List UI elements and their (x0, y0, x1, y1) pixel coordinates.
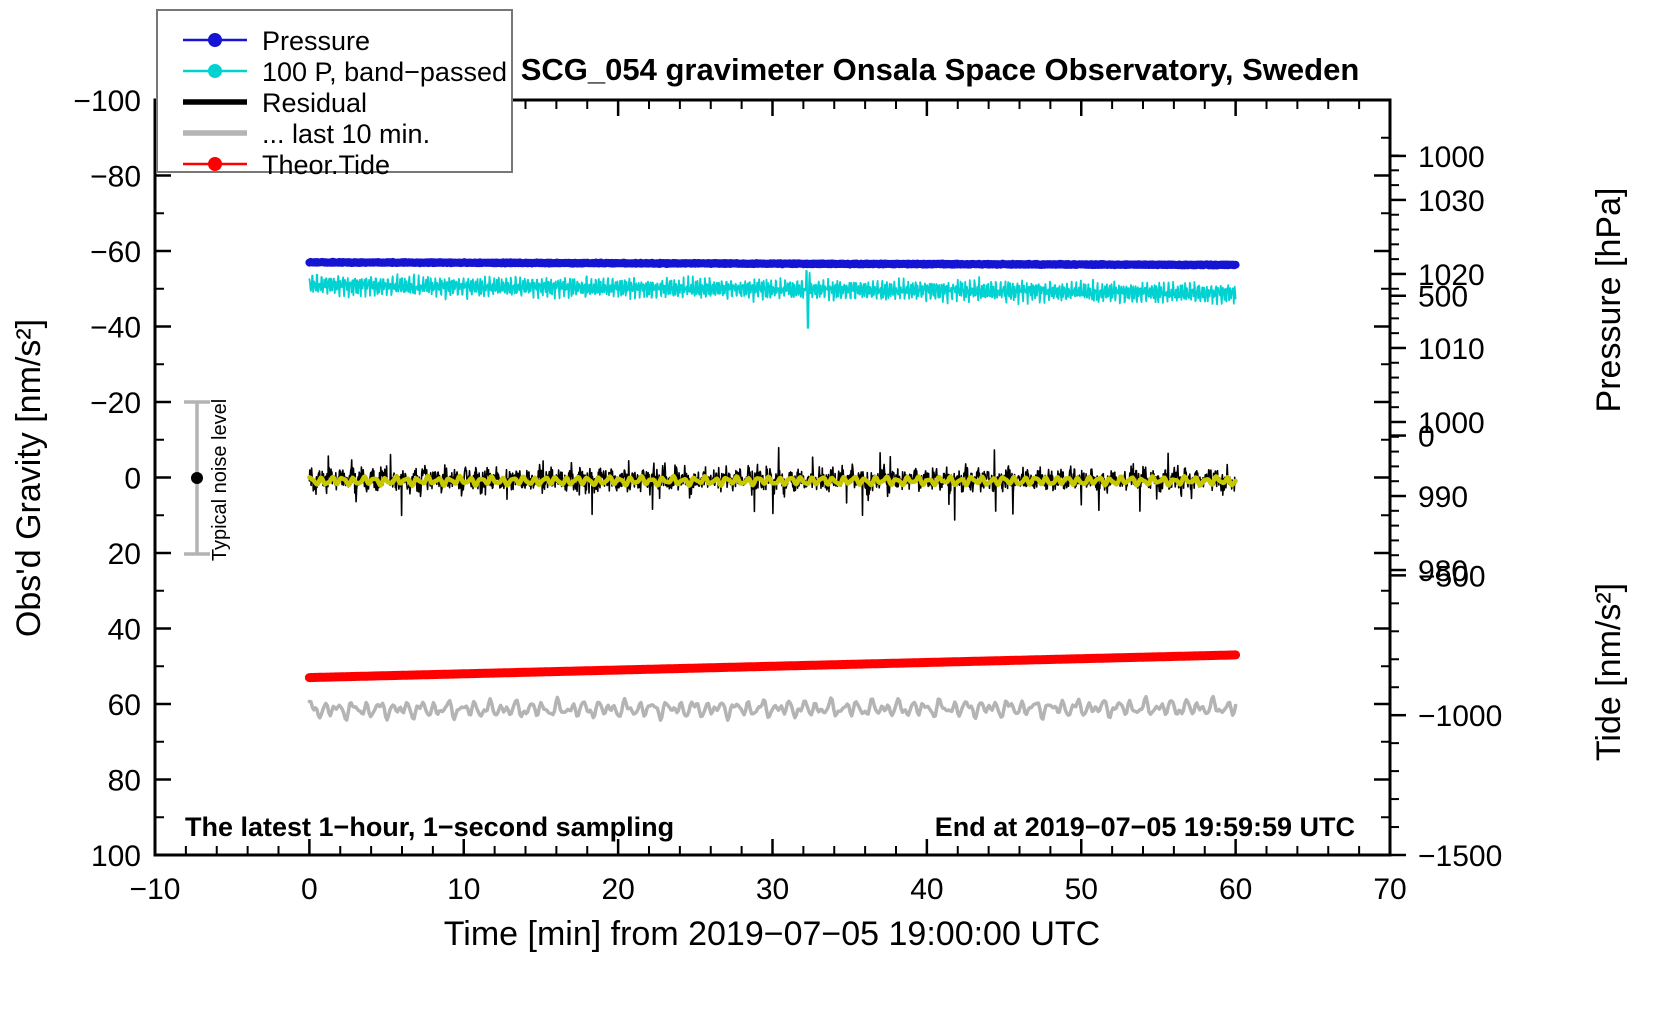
svg-text:−40: −40 (90, 312, 141, 345)
svg-text:0: 0 (1418, 421, 1435, 454)
legend-item-label: Theor.Tide (262, 150, 390, 180)
svg-text:0: 0 (124, 463, 141, 496)
gravimeter-plot: 100806040200−20−40−60−80−100 −1001020304… (0, 0, 1660, 1020)
svg-text:10: 10 (447, 873, 480, 906)
svg-text:100: 100 (91, 840, 141, 873)
legend-swatch-marker (208, 157, 222, 171)
legend-swatch-marker (208, 64, 222, 78)
svg-text:80: 80 (108, 765, 141, 798)
sampling-annotation: The latest 1−hour, 1−second sampling (185, 812, 674, 842)
svg-text:1010: 1010 (1418, 333, 1485, 366)
legend: Pressure100 P, band−passedResidual... la… (157, 10, 512, 180)
svg-text:20: 20 (108, 538, 141, 571)
legend-item-label: Residual (262, 88, 367, 118)
pressure-axis-title: Pressure [hPa] (1590, 188, 1628, 413)
legend-item-label: Pressure (262, 26, 370, 56)
svg-text:−1000: −1000 (1418, 700, 1502, 733)
chart-canvas: 100806040200−20−40−60−80−100 −1001020304… (0, 0, 1660, 1020)
x-axis-title: Time [min] from 2019−07−05 19:00:00 UTC (444, 915, 1100, 953)
svg-text:40: 40 (108, 614, 141, 647)
svg-text:1000: 1000 (1418, 141, 1485, 174)
svg-text:990: 990 (1418, 481, 1468, 514)
svg-text:−20: −20 (90, 387, 141, 420)
svg-text:70: 70 (1373, 873, 1406, 906)
svg-text:−100: −100 (73, 85, 141, 118)
trace-pressure (309, 262, 1235, 266)
noise-level-label: Typical noise level (209, 399, 231, 561)
svg-text:−10: −10 (130, 873, 181, 906)
svg-text:−60: −60 (90, 236, 141, 269)
legend-swatch-marker (208, 33, 222, 47)
tide-axis-title: Tide [nm/s²] (1590, 583, 1628, 761)
svg-text:1030: 1030 (1418, 185, 1485, 218)
svg-text:−80: −80 (90, 161, 141, 194)
svg-text:500: 500 (1418, 281, 1468, 314)
y-axis-title: Obs'd Gravity [nm/s²] (10, 319, 48, 637)
svg-text:−500: −500 (1418, 560, 1486, 593)
svg-text:20: 20 (601, 873, 634, 906)
svg-text:30: 30 (756, 873, 789, 906)
svg-text:60: 60 (108, 689, 141, 722)
end-time-annotation: End at 2019−07−05 19:59:59 UTC (935, 812, 1355, 842)
page-title: SCG_054 gravimeter Onsala Space Observat… (521, 52, 1360, 87)
legend-item-label: 100 P, band−passed (262, 57, 507, 87)
noise-bar-center-dot (191, 472, 203, 484)
svg-text:0: 0 (301, 873, 318, 906)
svg-text:−1500: −1500 (1418, 840, 1502, 873)
legend-item-label: ... last 10 min. (262, 119, 430, 149)
svg-text:60: 60 (1219, 873, 1252, 906)
svg-text:40: 40 (910, 873, 943, 906)
svg-text:50: 50 (1065, 873, 1098, 906)
